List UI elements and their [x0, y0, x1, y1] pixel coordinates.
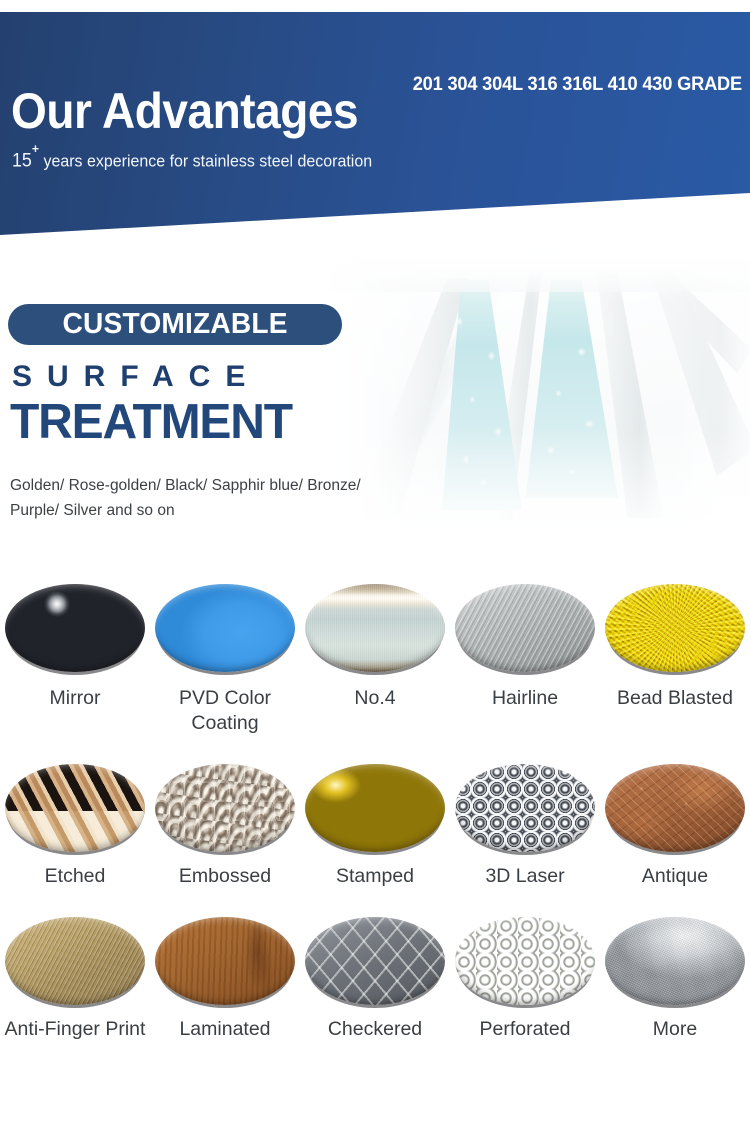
pvd-color-coating-swatch: [150, 578, 300, 678]
finish-item-3d-laser[interactable]: 3D Laser: [450, 758, 600, 889]
finish-label: Embossed: [150, 864, 300, 889]
finish-item-laminated[interactable]: Laminated: [150, 911, 300, 1042]
3d-laser-swatch: [450, 758, 600, 858]
finish-label: Antique: [600, 864, 750, 889]
finish-label: Bead Blasted: [600, 686, 750, 711]
finish-item-pvd-color-coating[interactable]: PVD Color Coating: [150, 578, 300, 736]
finish-label: More: [600, 1017, 750, 1042]
treatment-heading: TREATMENT: [10, 398, 292, 447]
finish-label: 3D Laser: [450, 864, 600, 889]
photo-fade-overlay: [330, 232, 750, 552]
finish-item-mirror[interactable]: Mirror: [0, 578, 150, 736]
electroplating-tanks-photo: [330, 232, 750, 552]
finish-label: Hairline: [450, 686, 600, 711]
finish-row: Anti-Finger Print Laminated Checkered Pe…: [0, 911, 750, 1042]
anti-finger-print-swatch: [0, 911, 150, 1011]
finish-label: Perforated: [450, 1017, 600, 1042]
antique-swatch: [600, 758, 750, 858]
finish-item-bead-blasted[interactable]: Bead Blasted: [600, 578, 750, 736]
finish-item-checkered[interactable]: Checkered: [300, 911, 450, 1042]
customizable-label: CUSTOMIZABLE: [62, 308, 287, 341]
bead-blasted-swatch: [600, 578, 750, 678]
finish-label: Checkered: [300, 1017, 450, 1042]
experience-years: 15: [12, 151, 32, 172]
finish-label: PVD Color Coating: [150, 686, 300, 736]
finish-item-no4[interactable]: No.4: [300, 578, 450, 736]
finish-label: Stamped: [300, 864, 450, 889]
finish-label: Anti-Finger Print: [0, 1017, 150, 1042]
experience-text: years experience for stainless steel dec…: [43, 152, 372, 171]
finish-item-perforated[interactable]: Perforated: [450, 911, 600, 1042]
hairline-swatch: [450, 578, 600, 678]
customizable-badge: CUSTOMIZABLE: [8, 304, 342, 345]
advantages-page: 201 304 304L 316 316L 410 430 GRADE Our …: [0, 0, 750, 1145]
laminated-swatch: [150, 911, 300, 1011]
stamped-swatch: [300, 758, 450, 858]
surface-heading: SURFACE: [12, 360, 260, 394]
finish-grid: Mirror PVD Color Coating No.4 Hairline B…: [0, 578, 750, 1042]
no4-swatch: [300, 578, 450, 678]
finish-label: Laminated: [150, 1017, 300, 1042]
finish-item-anti-finger-print[interactable]: Anti-Finger Print: [0, 911, 150, 1042]
finish-label: Etched: [0, 864, 150, 889]
plus-sign: +: [32, 141, 39, 156]
experience-subtitle: 15+ years experience for stainless steel…: [12, 148, 372, 173]
finish-item-hairline[interactable]: Hairline: [450, 578, 600, 736]
finish-row: Etched Embossed Stamped 3D Laser Antique: [0, 758, 750, 889]
etched-swatch: [0, 758, 150, 858]
more-swatch: [600, 911, 750, 1011]
steel-grades-text: 201 304 304L 316 316L 410 430 GRADE: [413, 74, 742, 96]
finish-label: No.4: [300, 686, 450, 711]
finish-item-embossed[interactable]: Embossed: [150, 758, 300, 889]
perforated-swatch: [450, 911, 600, 1011]
finish-item-etched[interactable]: Etched: [0, 758, 150, 889]
page-title: Our Advantages: [11, 86, 358, 136]
checkered-swatch: [300, 911, 450, 1011]
finish-item-antique[interactable]: Antique: [600, 758, 750, 889]
embossed-swatch: [150, 758, 300, 858]
mirror-swatch: [0, 578, 150, 678]
finish-row: Mirror PVD Color Coating No.4 Hairline B…: [0, 578, 750, 736]
available-colors-text: Golden/ Rose-golden/ Black/ Sapphir blue…: [10, 473, 390, 523]
finish-item-more[interactable]: More: [600, 911, 750, 1042]
finish-item-stamped[interactable]: Stamped: [300, 758, 450, 889]
finish-label: Mirror: [0, 686, 150, 711]
